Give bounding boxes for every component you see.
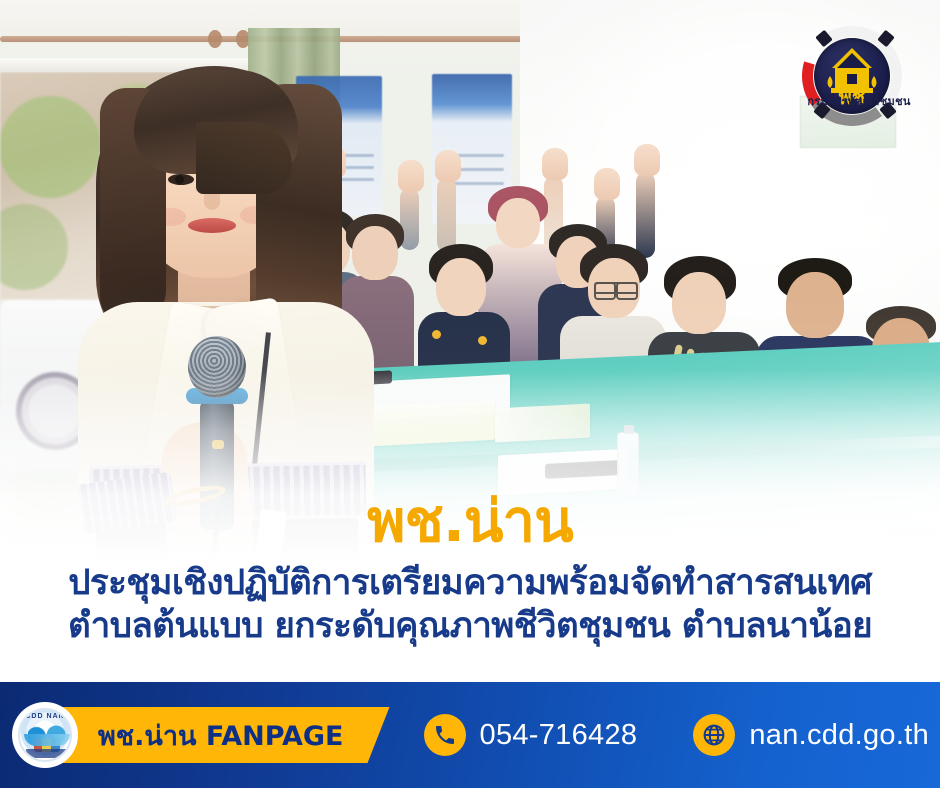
raised-arm — [636, 172, 655, 258]
fanpage-badge[interactable]: พช.น่าน FANPAGE — [52, 707, 390, 763]
gold-ring — [212, 440, 224, 449]
fanpage-label: พช.น่าน FANPAGE — [98, 714, 344, 757]
footer-contact-bar: CDD NAN พช.น่าน FANPAGE 054-716428 — [0, 682, 940, 788]
cdd-logo-thai-text: กรมการพัฒนาชุมชน — [794, 92, 924, 146]
cdd-nan-logo-inner: CDD NAN — [18, 708, 72, 762]
raised-arm — [437, 178, 456, 252]
event-photo — [0, 0, 940, 560]
cdd-nan-initials: CDD NAN — [20, 713, 70, 720]
phone-number: 054-716428 — [480, 719, 638, 752]
poster-canvas: พช กรมการพัฒนาชุมชน พช.น่าน ประชุมเชิงปฏ… — [0, 0, 940, 788]
document-paper — [495, 404, 590, 443]
raised-hand — [594, 168, 620, 200]
website-contact[interactable]: nan.cdd.go.th — [693, 714, 929, 756]
raised-hand — [634, 144, 660, 176]
water-bottle — [617, 432, 639, 494]
website-url: nan.cdd.go.th — [749, 719, 929, 752]
phone-icon — [424, 714, 466, 756]
cdd-department-logo: พช กรมการพัฒนาชุมชน — [800, 14, 924, 138]
page-title: พช.น่าน — [0, 492, 940, 550]
cdd-nan-base — [26, 749, 68, 758]
fanpage-group[interactable]: CDD NAN พช.น่าน FANPAGE — [14, 704, 390, 766]
speaker-woman — [60, 40, 390, 560]
cdd-nan-circle-logo: CDD NAN — [14, 704, 76, 766]
raised-hand — [398, 160, 424, 192]
page-subtitle: ประชุมเชิงปฏิบัติการเตรียมความพร้อมจัดทำ… — [0, 562, 940, 647]
microphone-head — [188, 336, 246, 398]
subtitle-line-2: ตำบลต้นแบบ ยกระดับคุณภาพชีวิตชุมชน ตำบลน… — [0, 605, 940, 648]
raised-hand — [542, 148, 568, 180]
hair-fringe — [134, 70, 298, 174]
cdd-nan-wave — [24, 734, 70, 746]
phone-contact[interactable]: 054-716428 — [424, 714, 638, 756]
lips — [188, 218, 236, 233]
subtitle-line-1: ประชุมเชิงปฏิบัติการเตรียมความพร้อมจัดทำ… — [0, 562, 940, 605]
globe-icon — [693, 714, 735, 756]
raised-hand — [435, 150, 461, 182]
